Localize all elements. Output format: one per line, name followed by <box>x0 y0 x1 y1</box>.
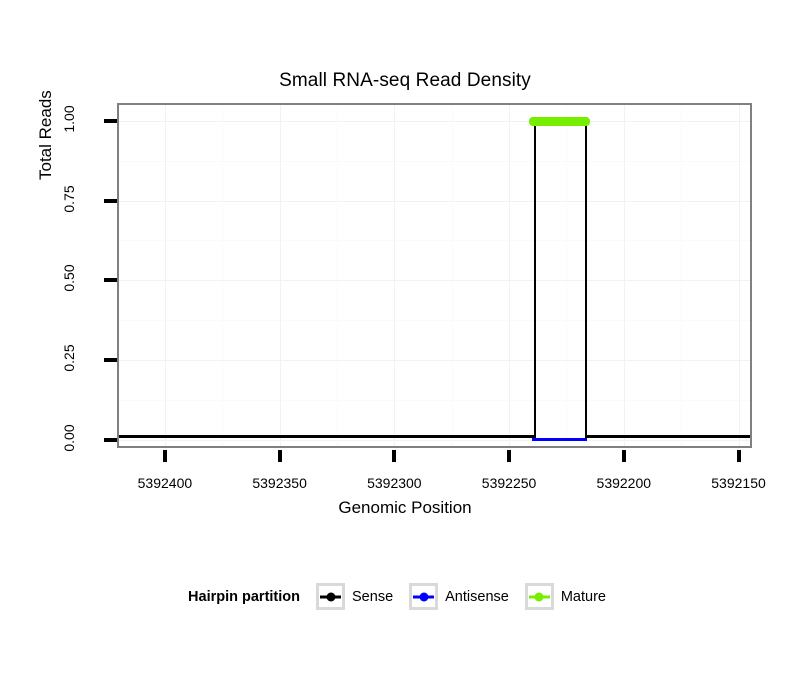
y-tick-label: 0.25 <box>61 328 77 388</box>
x-tick-label: 5392150 <box>711 475 766 491</box>
y-tick-mark <box>104 438 117 442</box>
antisense-segment <box>532 438 587 441</box>
sense-peak-left-edge <box>534 121 536 437</box>
y-tick-mark <box>104 358 117 362</box>
legend-label: Sense <box>352 589 393 605</box>
x-tick-mark <box>163 450 167 462</box>
sense-baseline-left <box>119 435 536 438</box>
x-tick-label: 5392400 <box>138 475 193 491</box>
y-axis-title: Total Reads <box>36 90 56 180</box>
x-tick-mark <box>392 450 396 462</box>
legend: Hairpin partition SenseAntisenseMature <box>0 583 810 610</box>
legend-label: Antisense <box>445 589 509 605</box>
legend-entry[interactable]: Sense <box>316 583 393 610</box>
y-tick-label: 0.75 <box>61 169 77 229</box>
y-tick-label: 1.00 <box>61 89 77 149</box>
chart-title: Small RNA-seq Read Density <box>0 70 810 92</box>
legend-entries: SenseAntisenseMature <box>316 583 622 610</box>
x-tick-mark <box>737 450 741 462</box>
y-tick-mark <box>104 119 117 123</box>
x-tick-label: 5392250 <box>482 475 537 491</box>
y-tick-mark <box>104 278 117 282</box>
series-layer <box>119 105 750 446</box>
x-tick-mark <box>507 450 511 462</box>
y-tick-label: 0.50 <box>61 248 77 308</box>
x-tick-mark <box>622 450 626 462</box>
legend-key-antisense <box>409 583 438 610</box>
sense-baseline-right <box>585 435 750 438</box>
legend-entry[interactable]: Mature <box>525 583 606 610</box>
x-axis-title: Genomic Position <box>0 498 810 518</box>
mature-segment <box>529 117 590 126</box>
legend-point-icon <box>419 592 428 601</box>
x-tick-label: 5392350 <box>252 475 307 491</box>
x-tick-label: 5392200 <box>597 475 652 491</box>
legend-entry[interactable]: Antisense <box>409 583 509 610</box>
legend-point-icon <box>535 592 544 601</box>
legend-key-mature <box>525 583 554 610</box>
plot-panel <box>117 103 752 448</box>
y-tick-label: 0.00 <box>61 408 77 468</box>
sense-peak-right-edge <box>585 121 587 437</box>
chart-root: Small RNA-seq Read Density Total Reads 0… <box>0 0 810 690</box>
x-tick-label: 5392300 <box>367 475 422 491</box>
panel-inner <box>119 105 750 446</box>
legend-title: Hairpin partition <box>188 589 300 605</box>
legend-label: Mature <box>561 589 606 605</box>
x-tick-mark <box>278 450 282 462</box>
y-tick-mark <box>104 199 117 203</box>
legend-point-icon <box>326 592 335 601</box>
legend-key-sense <box>316 583 345 610</box>
